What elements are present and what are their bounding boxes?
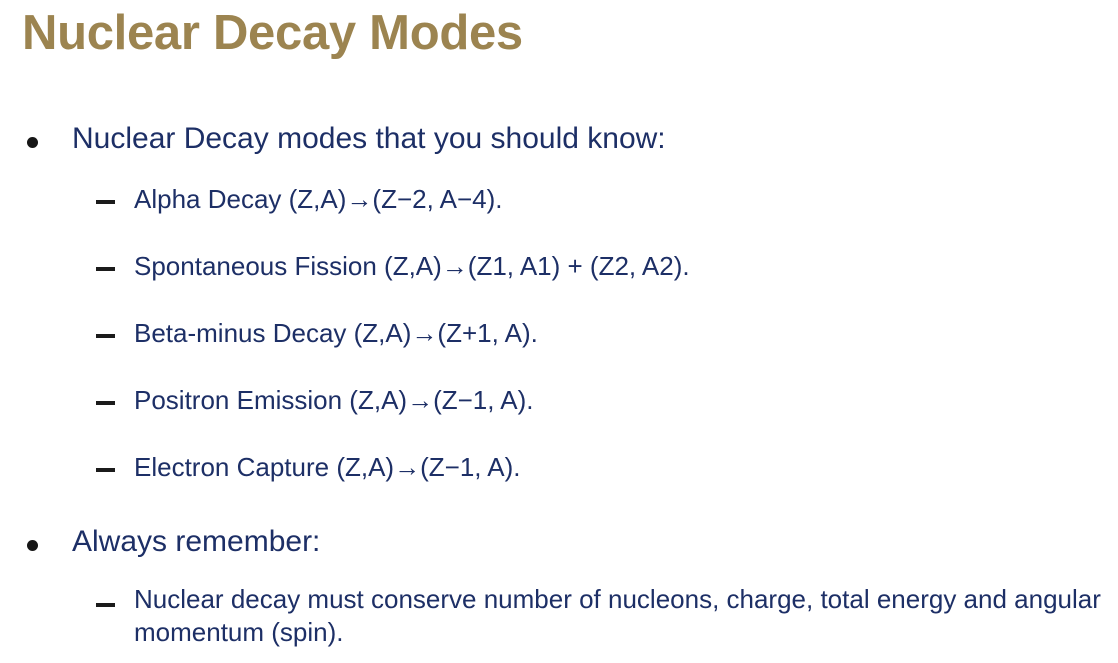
en-dash-icon bbox=[96, 468, 115, 472]
sub-bullet-label: Positron Emission (Z,A)→(Z−1, A). bbox=[134, 381, 533, 419]
en-dash-icon bbox=[96, 267, 115, 271]
sub-bullet-label: Alpha Decay (Z,A)→(Z−2, A−4). bbox=[134, 180, 502, 218]
sub-bullet-label: Electron Capture (Z,A)→(Z−1, A). bbox=[134, 448, 521, 486]
sub-bullet-item-spontaneous-fission: Spontaneous Fission (Z,A)→(Z1, A1) + (Z2… bbox=[0, 247, 1118, 314]
slide: Nuclear Decay Modes Nuclear Decay modes … bbox=[0, 0, 1118, 663]
sub-bullet-item-beta-minus-decay: Beta-minus Decay (Z,A)→(Z+1, A). bbox=[0, 314, 1118, 381]
sub-bullet-item-positron-emission: Positron Emission (Z,A)→(Z−1, A). bbox=[0, 381, 1118, 448]
en-dash-icon bbox=[96, 334, 115, 338]
bullet-label: Always remember: bbox=[72, 521, 320, 563]
en-dash-icon bbox=[96, 200, 115, 204]
page-title: Nuclear Decay Modes bbox=[22, 4, 1092, 62]
sub-bullet-item-electron-capture: Electron Capture (Z,A)→(Z−1, A). bbox=[0, 448, 1118, 515]
slide-body: Nuclear Decay modes that you should know… bbox=[0, 118, 1118, 663]
bullet-label: Nuclear Decay modes that you should know… bbox=[72, 118, 666, 160]
sub-bullet-item-conservation-laws: Nuclear decay must conserve number of nu… bbox=[0, 583, 1118, 663]
sub-bullet-item-alpha-decay: Alpha Decay (Z,A)→(Z−2, A−4). bbox=[0, 180, 1118, 247]
en-dash-icon bbox=[96, 401, 115, 405]
bullet-item-always-remember-heading: Always remember: bbox=[0, 521, 1118, 583]
sub-bullet-label: Spontaneous Fission (Z,A)→(Z1, A1) + (Z2… bbox=[134, 247, 690, 285]
bullet-dot-icon bbox=[27, 137, 38, 148]
sub-bullet-label: Beta-minus Decay (Z,A)→(Z+1, A). bbox=[134, 314, 538, 352]
sub-bullet-label: Nuclear decay must conserve number of nu… bbox=[134, 583, 1102, 649]
bullet-dot-icon bbox=[27, 540, 38, 551]
en-dash-icon bbox=[96, 603, 115, 607]
bullet-item-decay-modes-heading: Nuclear Decay modes that you should know… bbox=[0, 118, 1118, 180]
